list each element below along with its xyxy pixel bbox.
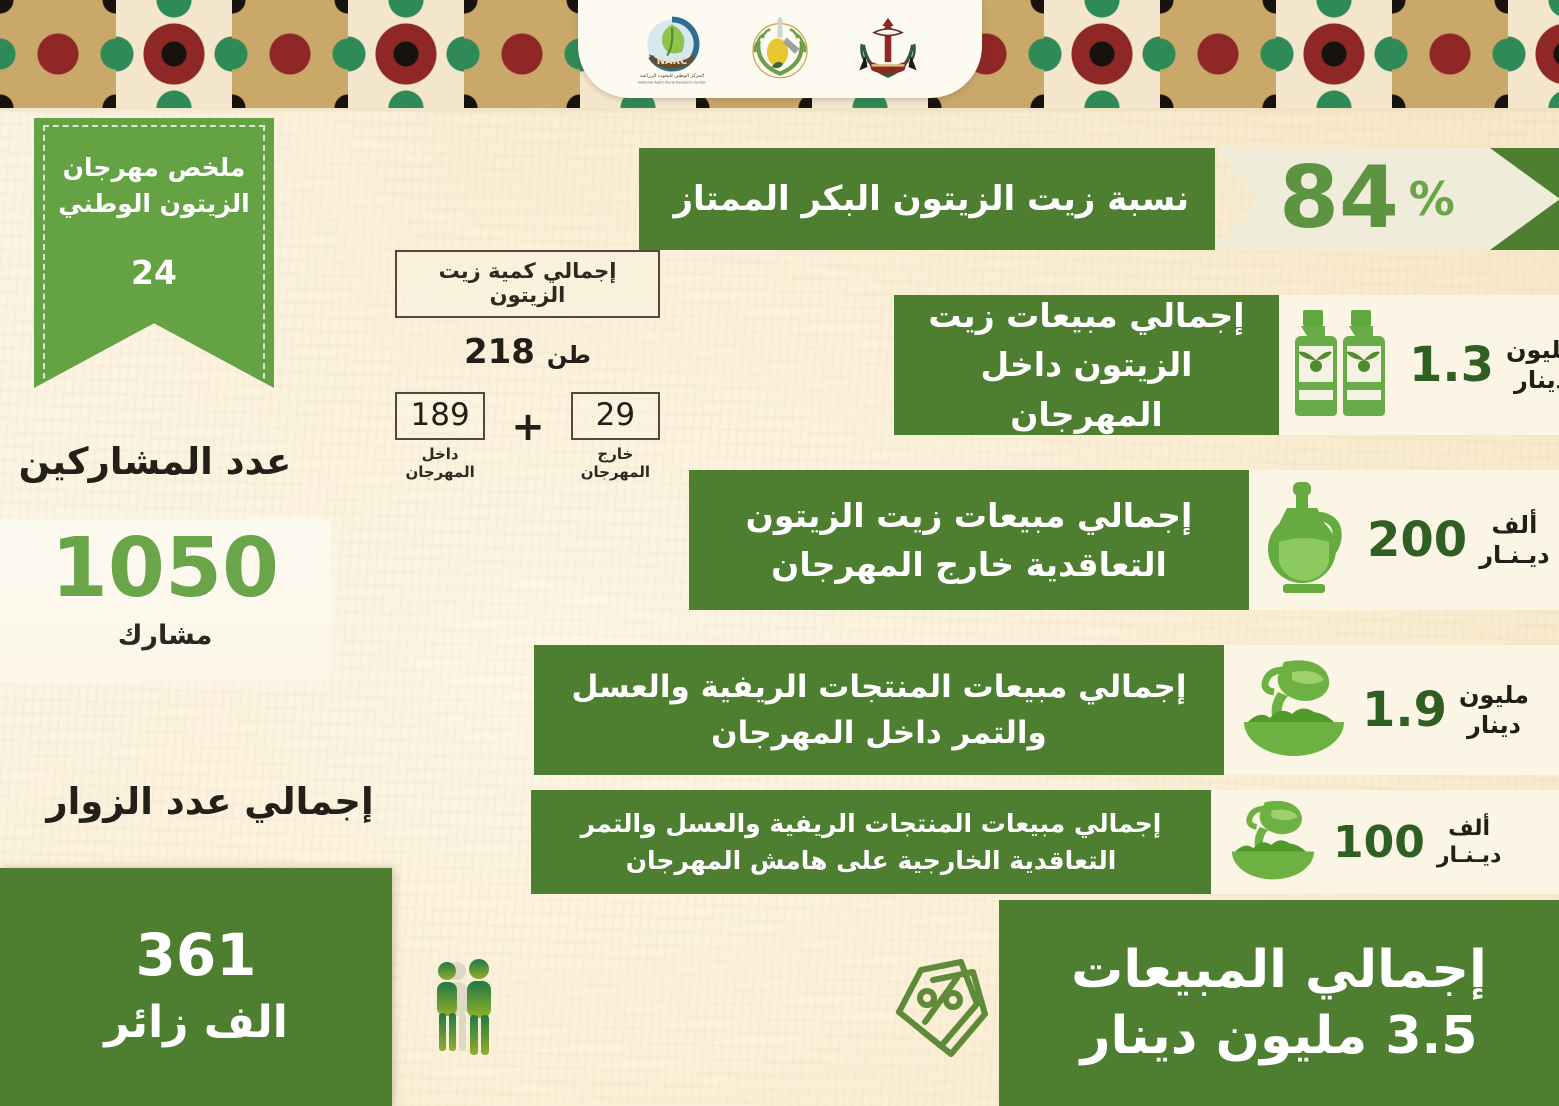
extra-virgin-label: نسبة زيت الزيتون البكر الممتاز [639, 148, 1215, 250]
plus-sign: + [511, 404, 545, 470]
stat-unit-line1: ألف [1437, 815, 1502, 843]
stat-label-line1: إجمالي مبيعات المنتجات الريفية والعسل [571, 664, 1186, 711]
oil-quantity-breakdown: 29 خارج المهرجان + 189 داخل المهرجان [395, 392, 660, 481]
percent-sign: % [1409, 172, 1455, 226]
total-sales-label: إجمالي المبيعات [1071, 940, 1487, 1000]
stat-value: 1.3 [1409, 337, 1494, 393]
stat-unit-line2: ديـنـار [1479, 540, 1549, 570]
stat-value: 1.9 [1362, 682, 1447, 738]
stat-label: إجمالي مبيعات زيت الزيتون داخل المهرجان [894, 295, 1279, 435]
stat-label-line1: إجمالي مبيعات المنتجات الريفية والعسل وا… [581, 805, 1162, 843]
logo-plate: الأردن NARC المركز الوطني للبحوث الزراعي… [578, 0, 982, 98]
stat-unit: ألف ديـنـار [1479, 510, 1549, 570]
oil-outside-caption: خارج المهرجان [571, 445, 660, 481]
arrow-notch [1490, 148, 1559, 250]
ribbon-edition-number: 24 [34, 253, 274, 292]
total-oil-quantity-block: إجمالي كمية زيت الزيتون طن 218 29 خارج ا… [395, 250, 660, 481]
price-tag-percent-icon [865, 950, 993, 1074]
stat-unit-line2: دينار [1459, 710, 1529, 740]
participants-unit: مشارك [0, 620, 330, 651]
jordan-coat-of-arms-logo: الأردن [847, 8, 929, 90]
people-icon [425, 955, 515, 1069]
stat-row-rural-products-contract-outside: ألف ديـنـار 100 إجمالي مبيعات المنتجات ا… [531, 790, 1559, 894]
stat-unit: ألف ديـنـار [1437, 815, 1502, 870]
visitors-unit: الف زائر [104, 995, 288, 1050]
oil-quantity-title: إجمالي كمية زيت الزيتون [395, 250, 660, 318]
svg-text:NARC: NARC [656, 56, 687, 67]
oil-outside-cell: 29 خارج المهرجان [571, 392, 660, 481]
stat-label: إجمالي مبيعات المنتجات الريفية والعسل وا… [531, 790, 1211, 894]
oil-outside-value: 29 [571, 392, 660, 440]
svg-text:الأردن: الأردن [880, 65, 895, 73]
visitors-value-box: 361 الف زائر [0, 868, 392, 1106]
stat-row-rural-products-inside: مليون دينار 1.9 إجمالي مبيعات المنتجات ا… [534, 645, 1559, 775]
stat-unit: مليون دينار [1506, 335, 1559, 395]
svg-text:المركز الوطني للبحوث الزراعية: المركز الوطني للبحوث الزراعية [639, 73, 703, 79]
pouring-jug-bowl-icon [1225, 794, 1321, 890]
extra-virgin-value-wrap: % 84 [1215, 148, 1559, 250]
stat-value-panel: مليون دينار 1.3 [1279, 295, 1559, 435]
extra-virgin-value: 84 [1279, 160, 1399, 237]
oil-quantity-amount: طن 218 [395, 332, 660, 372]
oil-cruet-icon [1263, 480, 1355, 600]
oil-quantity-value: 218 [464, 332, 535, 372]
participants-value: 1050 [0, 528, 330, 610]
oil-quantity-unit: طن [547, 341, 591, 369]
visitors-value: 361 [135, 924, 256, 988]
stat-row-oil-sales-contract-outside: ألف ديـنـار 200 إجمالي مبيعات زيت الزيتو… [689, 470, 1559, 610]
oil-inside-caption: داخل المهرجان [395, 445, 485, 481]
stat-label-line2: والتمر داخل المهرجان [571, 710, 1186, 757]
stat-label: إجمالي مبيعات زيت الزيتون التعاقدية خارج… [689, 470, 1249, 610]
stat-label-line1: إجمالي مبيعات زيت [916, 291, 1257, 341]
stat-unit-line1: مليون [1506, 335, 1559, 365]
stat-unit-line1: ألف [1479, 510, 1549, 540]
stat-unit: مليون دينار [1459, 680, 1529, 740]
extra-virgin-percentage-banner: % 84 نسبة زيت الزيتون البكر الممتاز [639, 148, 1559, 250]
svg-text:National Agricultural Research: National Agricultural Research Center [638, 80, 706, 84]
stat-value: 100 [1333, 817, 1425, 868]
stat-unit-line1: مليون [1459, 680, 1529, 710]
oil-inside-cell: 189 داخل المهرجان [395, 392, 485, 481]
olive-oil-bottles-icon [1293, 304, 1397, 426]
ministry-of-agriculture-logo [739, 8, 821, 90]
stat-label-line2: التعاقدية الخارجية على هامش المهرجان [581, 842, 1162, 880]
stat-label-line2: الزيتون داخل المهرجان [916, 340, 1257, 439]
stat-label: إجمالي مبيعات المنتجات الريفية والعسل وا… [534, 645, 1224, 775]
stat-value: 200 [1367, 512, 1467, 568]
stat-unit-line2: دينار [1506, 365, 1559, 395]
stat-row-oil-sales-inside: مليون دينار 1.3 [894, 295, 1559, 435]
stat-unit-line2: ديـنـار [1437, 842, 1502, 870]
stat-value-panel: مليون دينار 1.9 [1224, 645, 1559, 775]
visitors-label: إجمالي عدد الزوار [0, 780, 420, 823]
stat-value-panel: ألف ديـنـار 100 [1211, 790, 1559, 894]
ribbon-title: ملخص مهرجان الزيتون الوطني [34, 150, 274, 221]
ribbon-title-line2: الزيتون الوطني [34, 186, 274, 222]
ribbon-title-line1: ملخص مهرجان [34, 150, 274, 186]
oil-inside-value: 189 [395, 392, 485, 440]
narc-logo: NARC المركز الوطني للبحوث الزراعية Natio… [631, 8, 713, 90]
pouring-jug-bowl-icon [1238, 652, 1350, 768]
stat-label-line1: إجمالي مبيعات زيت الزيتون [746, 491, 1193, 541]
total-sales-value: 3.5 مليون دينار [1081, 1006, 1478, 1066]
total-sales-box: إجمالي المبيعات 3.5 مليون دينار [999, 900, 1559, 1106]
stat-label-line2: التعاقدية خارج المهرجان [746, 540, 1193, 590]
participants-label: عدد المشاركين [0, 440, 310, 483]
stat-value-panel: ألف ديـنـار 200 [1249, 470, 1559, 610]
